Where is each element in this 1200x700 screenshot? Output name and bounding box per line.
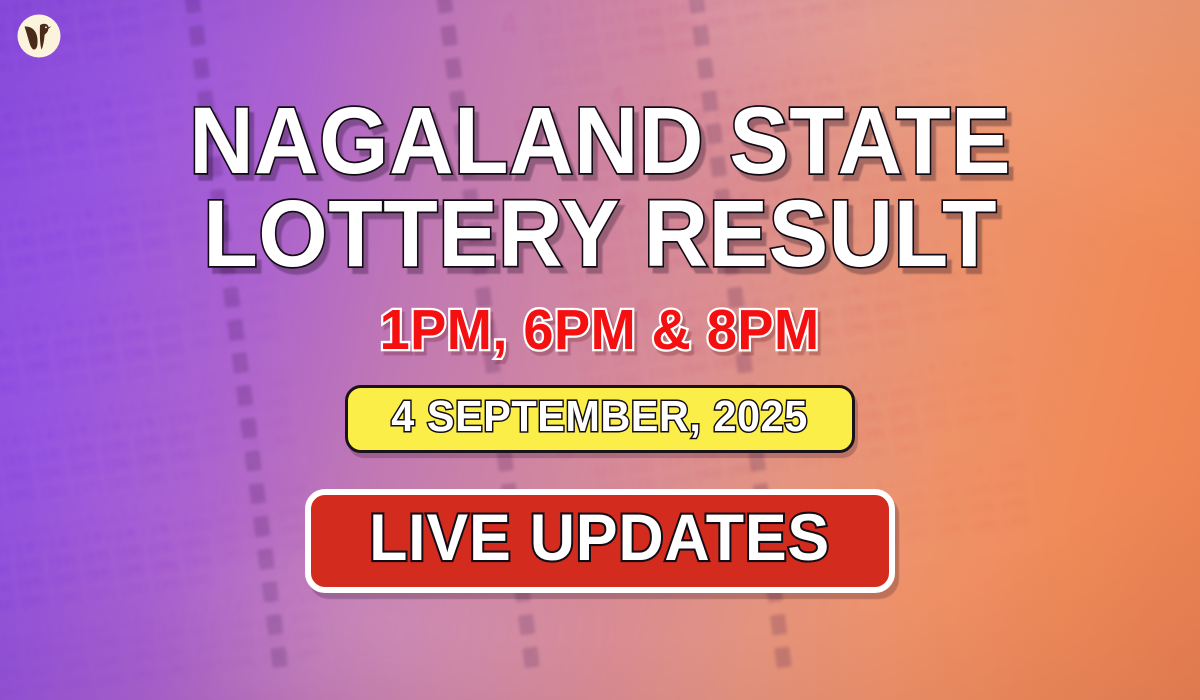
live-updates-button[interactable]: LIVE UPDATES <box>305 489 894 593</box>
date-badge: 4 SEPTEMBER, 2025 <box>345 385 854 453</box>
logo-circle-icon <box>18 15 61 58</box>
page-title: NAGALAND STATE LOTTERY RESULT <box>189 96 1011 280</box>
draw-times-text: 1PM, 6PM & 8PM <box>380 302 820 359</box>
title-line-1: NAGALAND STATE <box>189 88 1011 194</box>
banner-content: NAGALAND STATE LOTTERY RESULT 1PM, 6PM &… <box>0 0 1200 700</box>
title-line-2: LOTTERY RESULT <box>189 189 1011 280</box>
live-updates-label: LIVE UPDATES <box>370 504 831 570</box>
lottery-result-banner: 2( 1 )( 2 )( 3 )( 4 )( 5 )( 6 )( 7 )( 8 … <box>0 0 1200 700</box>
brand-logo[interactable] <box>15 12 63 60</box>
date-badge-label: 4 SEPTEMBER, 2025 <box>392 395 808 439</box>
